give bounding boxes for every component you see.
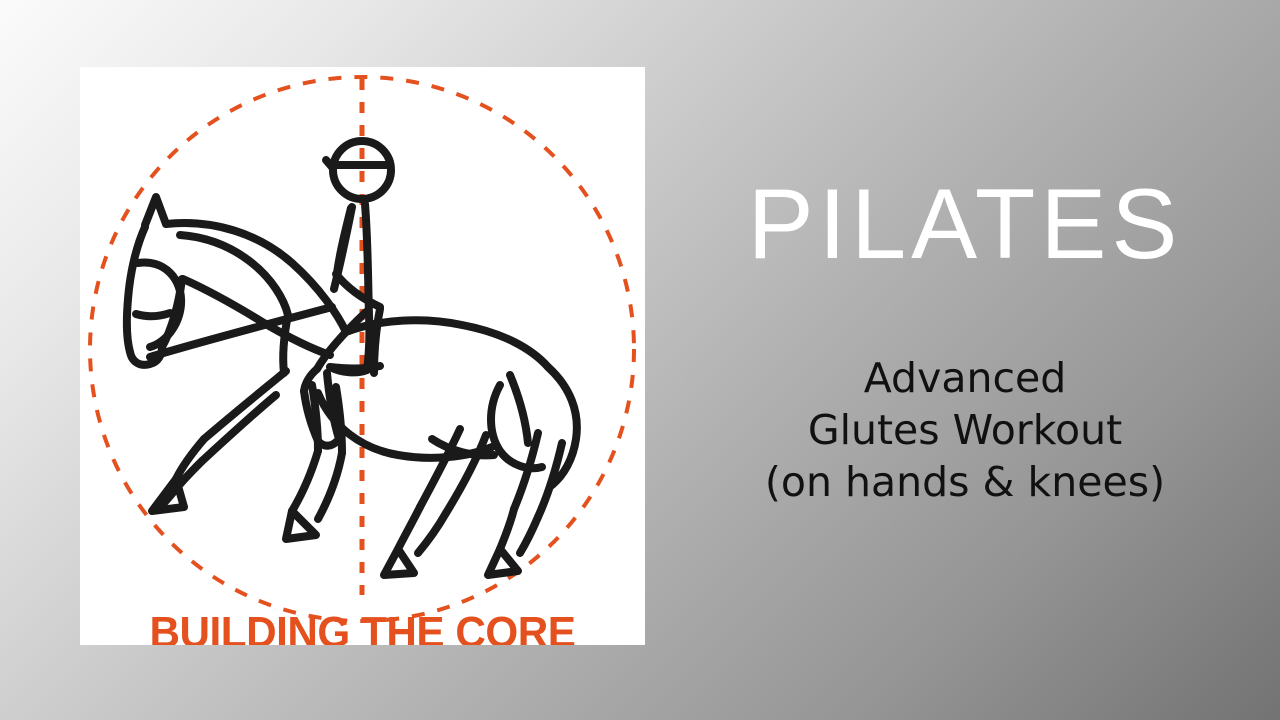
- rider-forearm: [336, 274, 380, 307]
- slide-canvas: BUILDING THE CORE FOR A BETTER RIDE PILA…: [0, 0, 1280, 720]
- horse-foreleg-near-upper: [204, 371, 286, 439]
- horse-hindleg-near-cannon2: [418, 513, 446, 553]
- horse-ear: [145, 197, 166, 225]
- rider-back: [365, 204, 369, 370]
- horse-hindleg-off-cannon: [500, 509, 514, 549]
- text-panel: PILATES Advanced Glutes Workout (on hand…: [680, 0, 1250, 720]
- horse-saddle-flap: [330, 366, 380, 368]
- horse-hindquarter-line: [510, 375, 528, 443]
- subtitle-line-1: Advanced: [680, 352, 1250, 404]
- horse-shoulder: [283, 315, 288, 373]
- horse-foreleg-off-cannon: [292, 451, 318, 511]
- dressage-horse-and-rider-illustration: [80, 67, 645, 645]
- image-caption: BUILDING THE CORE FOR A BETTER RIDE: [91, 609, 633, 645]
- horse-foreleg-off-cannon2: [318, 453, 342, 519]
- subtitle-line-3: (on hands & knees): [680, 456, 1250, 508]
- horse-hoof-near-hind: [384, 549, 414, 575]
- horse-hindleg-off-cannon2: [520, 517, 538, 553]
- horse-hindleg-near-cannon: [398, 507, 420, 549]
- image-card[interactable]: BUILDING THE CORE FOR A BETTER RIDE: [80, 67, 645, 645]
- horse-face-front: [127, 227, 145, 352]
- subtitle-line-2: Glutes Workout: [680, 404, 1250, 456]
- rider-helmet-peak: [326, 160, 332, 167]
- caption-line-1: BUILDING THE CORE: [91, 609, 633, 645]
- horse-hoof-off-hind: [488, 549, 518, 575]
- horse-noseband: [136, 313, 170, 316]
- horse-hoof-off-front: [286, 511, 316, 539]
- page-subtitle: Advanced Glutes Workout (on hands & knee…: [680, 352, 1250, 508]
- page-title: PILATES: [680, 172, 1250, 276]
- line-art-strokes: [127, 141, 577, 575]
- horse-foreleg-off-upper: [312, 385, 318, 451]
